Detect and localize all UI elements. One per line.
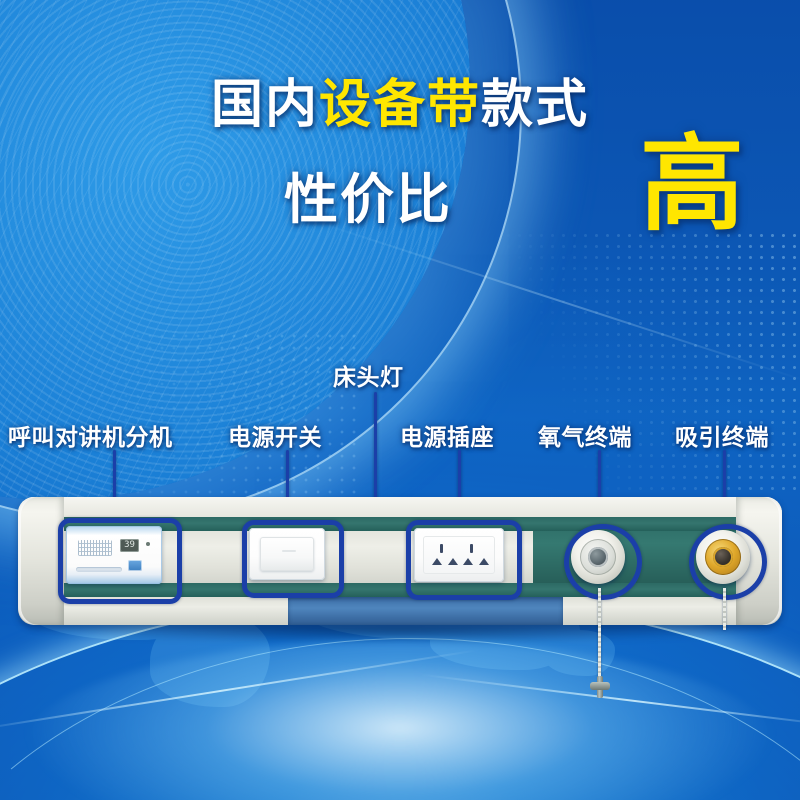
highlight-box-intercom xyxy=(58,518,182,604)
headline-big-char: 高 xyxy=(640,133,744,237)
callout-label-socket: 电源插座 xyxy=(400,418,494,452)
headline-line-1: 国内设备带款式 xyxy=(0,78,800,133)
oxygen-hose-cord xyxy=(598,588,601,680)
headline-block: 国内设备带款式 性价比 高 xyxy=(0,78,800,237)
panel-rail-blue-section xyxy=(288,597,563,625)
headline-subtitle: 性价比 xyxy=(284,155,452,234)
suction-hose-cord xyxy=(723,588,726,630)
highlight-box-switch xyxy=(242,520,344,598)
headline-line-2: 性价比 高 xyxy=(0,147,800,237)
callout-label-suction: 吸引终端 xyxy=(675,418,769,452)
oxygen-hose-connector xyxy=(590,676,610,698)
poster-stage: 国内设备带款式 性价比 高 呼叫对讲机分机 电源开关 床头灯 电源插座 氧气终端… xyxy=(0,0,800,800)
headline-part-1: 国内 xyxy=(211,76,319,134)
callout-label-switch: 电源开关 xyxy=(228,418,322,452)
halftone-dots-left xyxy=(60,330,360,500)
callout-label-intercom: 呼叫对讲机分机 xyxy=(8,418,173,452)
callout-label-bedlamp: 床头灯 xyxy=(333,358,404,392)
highlight-box-socket xyxy=(406,520,522,600)
panel-top-edge xyxy=(18,497,782,517)
highlight-circle-suction xyxy=(689,524,767,600)
callout-label-oxygen: 氧气终端 xyxy=(538,418,632,452)
headline-highlight: 设备带 xyxy=(319,76,481,134)
headline-part-2: 款式 xyxy=(481,76,589,134)
highlight-circle-oxygen xyxy=(564,524,642,600)
